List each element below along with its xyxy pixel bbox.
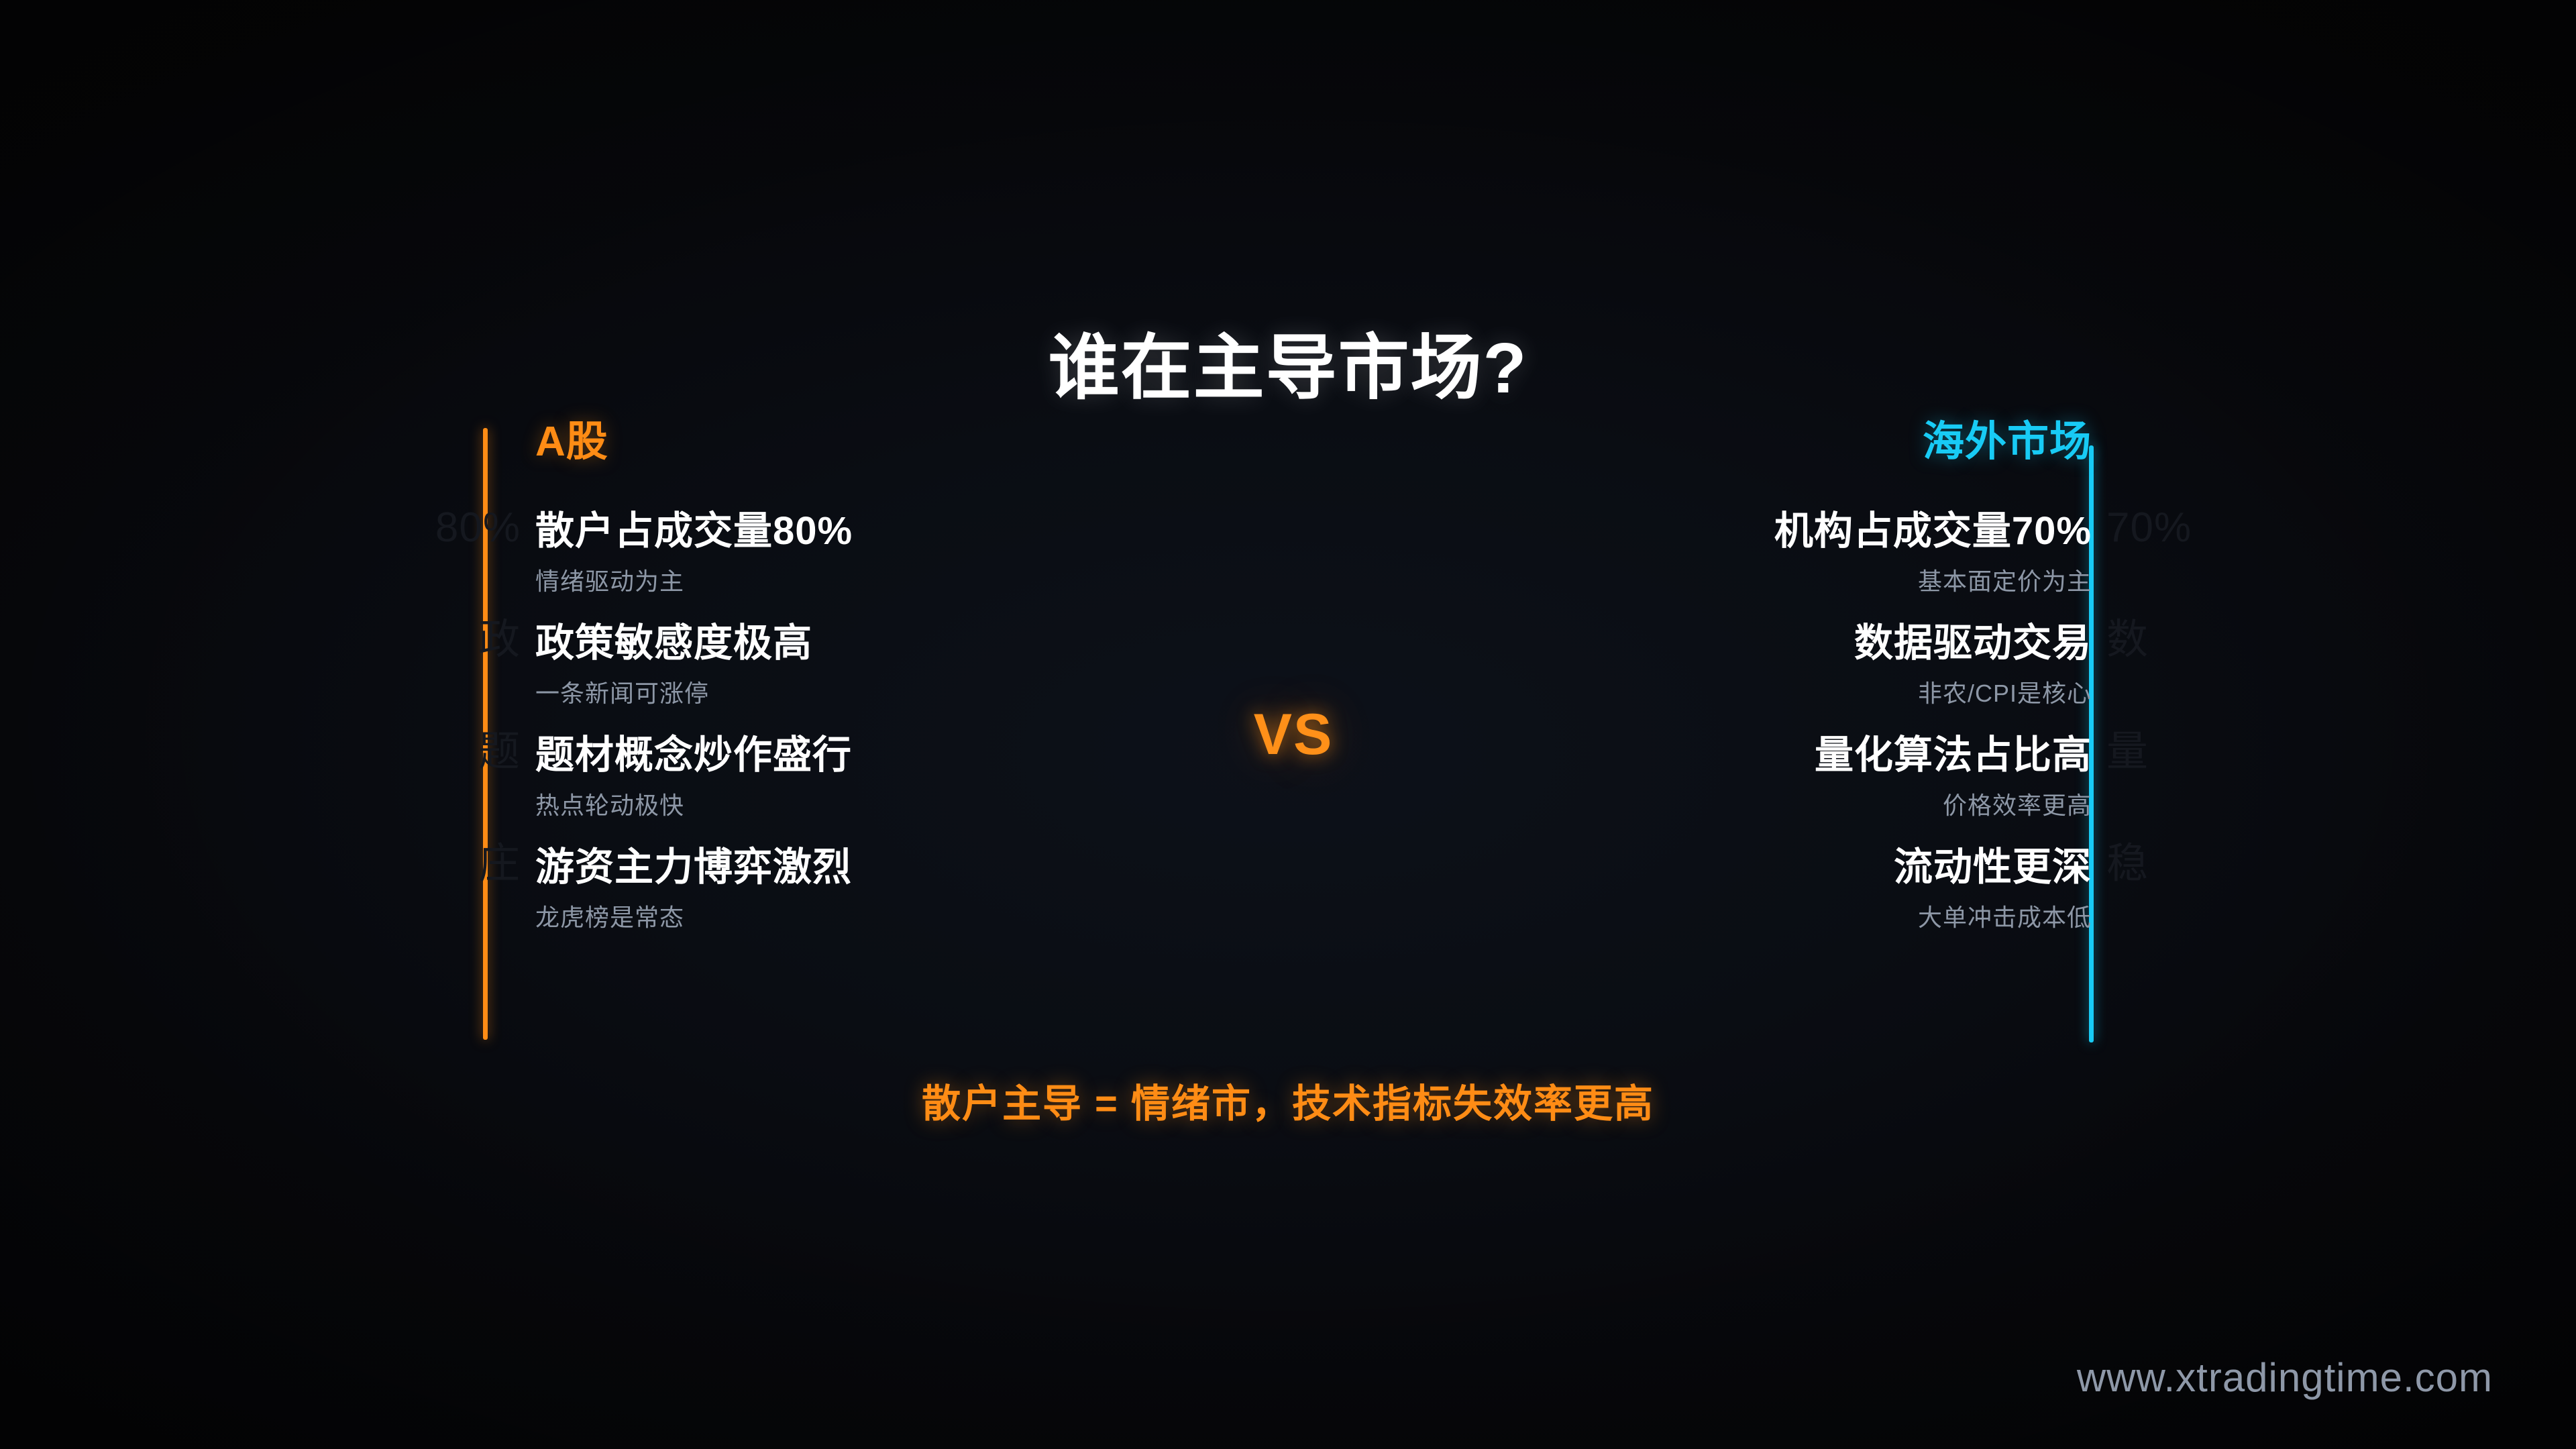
left-row-ghost-4: 庄 <box>478 843 521 885</box>
list-item: 题 题材概念炒作盛行 热点轮动极快 <box>535 735 1327 818</box>
left-row-title-text-4: 游资主力博弈激烈 <box>535 845 852 889</box>
left-row-title-4: 庄 游资主力博弈激烈 <box>535 847 852 888</box>
left-row-title-3: 题 题材概念炒作盛行 <box>535 735 852 776</box>
list-item: 机构占成交量70% 70% 基本面定价为主 <box>1295 511 2092 594</box>
right-row-ghost-2: 数 <box>2106 619 2149 661</box>
right-row-sub-3: 价格效率更高 <box>1295 794 2092 818</box>
right-row-title-text-1: 机构占成交量70% <box>1774 509 2092 553</box>
left-row-sub-3: 热点轮动极快 <box>535 794 1327 818</box>
left-row-ghost-1: 80% <box>435 507 521 549</box>
left-row-ghost-3: 题 <box>478 731 521 773</box>
right-row-title-4: 流动性更深 稳 <box>1894 847 2092 888</box>
left-row-title-text-2: 政策敏感度极高 <box>535 621 812 665</box>
right-column-heading: 海外市场 <box>1295 421 2092 463</box>
right-row-sub-2: 非农/CPI是核心 <box>1295 682 2092 706</box>
right-row-ghost-1: 70% <box>2106 507 2192 549</box>
page-title: 谁在主导市场? <box>0 310 2576 413</box>
left-column-heading: A股 <box>535 421 1327 463</box>
versus-badge: VS <box>1226 702 1360 768</box>
conclusion-text: 散户主导 = 情绪市，技术指标失效率更高 <box>0 1072 2576 1128</box>
left-row-title-1: 80% 散户占成交量80% <box>535 511 853 552</box>
left-row-title-text-3: 题材概念炒作盛行 <box>535 733 852 777</box>
right-row-title-text-3: 量化算法占比高 <box>1815 733 2092 777</box>
list-item: 80% 散户占成交量80% 情绪驱动为主 <box>535 511 1327 594</box>
right-row-ghost-3: 量 <box>2106 731 2149 773</box>
right-row-title-text-4: 流动性更深 <box>1894 845 2092 889</box>
list-item: 政 政策敏感度极高 一条新闻可涨停 <box>535 623 1327 706</box>
left-row-sub-1: 情绪驱动为主 <box>535 570 1327 594</box>
right-row-title-1: 机构占成交量70% 70% <box>1774 511 2092 552</box>
list-item: 量化算法占比高 量 价格效率更高 <box>1295 735 2092 818</box>
left-row-sub-2: 一条新闻可涨停 <box>535 682 1327 706</box>
right-row-sub-4: 大单冲击成本低 <box>1295 906 2092 930</box>
left-row-title-2: 政 政策敏感度极高 <box>535 623 812 664</box>
left-column: A股 80% 散户占成交量80% 情绪驱动为主 政 政策敏感度极高 一条新闻可涨… <box>484 421 1327 930</box>
list-item: 庄 游资主力博弈激烈 龙虎榜是常态 <box>535 847 1327 930</box>
right-row-title-text-2: 数据驱动交易 <box>1854 621 2092 665</box>
right-column: 海外市场 机构占成交量70% 70% 基本面定价为主 数据驱动交易 数 非农/C… <box>1295 421 2143 930</box>
left-row-sub-4: 龙虎榜是常态 <box>535 906 1327 930</box>
site-watermark: www.xtradingtime.com <box>2077 1354 2493 1401</box>
comparison-slide: 谁在主导市场? A股 80% 散户占成交量80% 情绪驱动为主 政 政策敏感度极… <box>0 0 2576 1449</box>
left-row-ghost-2: 政 <box>478 619 521 661</box>
list-item: 数据驱动交易 数 非农/CPI是核心 <box>1295 623 2092 706</box>
list-item: 流动性更深 稳 大单冲击成本低 <box>1295 847 2092 930</box>
right-row-sub-1: 基本面定价为主 <box>1295 570 2092 594</box>
left-row-title-text-1: 散户占成交量80% <box>535 509 853 553</box>
right-row-ghost-4: 稳 <box>2106 843 2149 885</box>
right-row-title-3: 量化算法占比高 量 <box>1815 735 2092 776</box>
right-row-title-2: 数据驱动交易 数 <box>1854 623 2092 664</box>
